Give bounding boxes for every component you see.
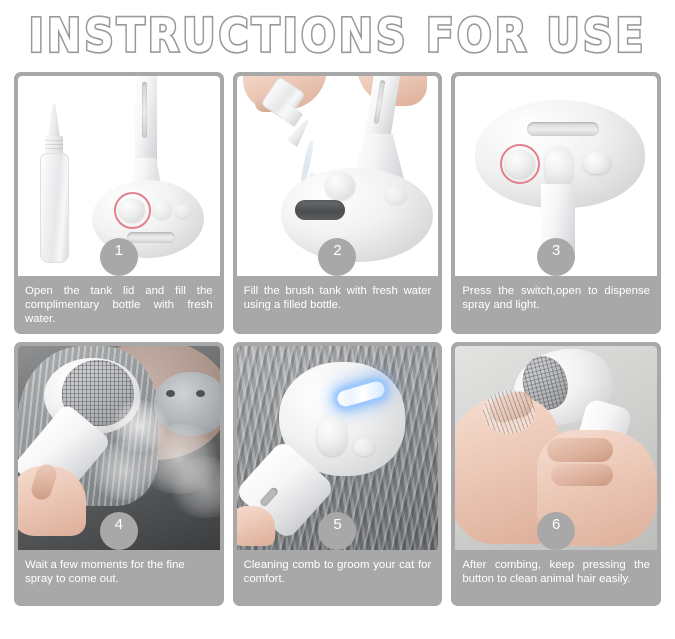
secondary-knob (152, 200, 172, 219)
step-badge-3: 3 (537, 238, 575, 276)
steps-grid: 1 Open the tank lid and fill the complim… (0, 72, 675, 615)
tank-lid-knob (325, 172, 355, 200)
animal-hair-tuft (483, 390, 535, 434)
step-caption-2: Fill the brush tank with fresh water usi… (233, 276, 443, 334)
step-panel-2: 2 Fill the brush tank with fresh water u… (233, 72, 443, 334)
base-slot-dark (295, 200, 345, 220)
bottle-neck-icon (45, 136, 63, 154)
step-badge-6: 6 (537, 512, 575, 550)
step-image-6: 6 (455, 346, 657, 550)
step-image-2: 2 (237, 76, 439, 276)
instructions-infographic: INSTRUCTIONS FOR USE (0, 0, 675, 639)
step-panel-3: 3 Press the switch,open to dispense spra… (451, 72, 661, 334)
step-panel-1: 1 Open the tank lid and fill the complim… (14, 72, 224, 334)
step-panel-4: 4 Wait a few moments for the fine spray … (14, 342, 224, 606)
handle-slot (142, 82, 147, 138)
top-slot (527, 122, 599, 136)
water-bottle-icon (40, 153, 69, 263)
power-switch-knob (385, 186, 407, 204)
step-panel-6: 6 After combing, keep pressing the butto… (451, 342, 661, 606)
step-image-1: 1 (18, 76, 220, 276)
step-caption-1: Open the tank lid and fill the complimen… (14, 276, 224, 334)
side-knob (353, 438, 375, 456)
tank-lid-knob (119, 198, 145, 222)
bottle-tip-icon (48, 104, 60, 138)
tertiary-knob (175, 204, 191, 218)
step-badge-5: 5 (318, 512, 356, 550)
step-panel-5: 5 Cleaning comb to groom your cat for co… (233, 342, 443, 606)
step-caption-6: After combing, keep pressing the button … (451, 550, 661, 606)
step-caption-4: Wait a few moments for the fine spray to… (14, 550, 224, 606)
step-badge-2: 2 (318, 238, 356, 276)
finger-right-1 (547, 438, 613, 462)
step-image-3: 3 (455, 76, 657, 276)
page-title: INSTRUCTIONS FOR USE (29, 9, 647, 63)
finger (237, 506, 275, 546)
spray-mist (88, 442, 160, 500)
side-knob (583, 152, 611, 174)
cat-eye-right (196, 390, 205, 397)
center-knob (317, 416, 347, 456)
step-image-4: 4 (18, 346, 220, 550)
center-knob (545, 146, 573, 188)
title-bar: INSTRUCTIONS FOR USE (0, 0, 675, 72)
step-badge-1: 1 (100, 238, 138, 276)
step-badge-4: 4 (100, 512, 138, 550)
step-caption-5: Cleaning comb to groom your cat for comf… (233, 550, 443, 606)
step-image-5: 5 (237, 346, 439, 550)
step-caption-3: Press the switch,open to dispense spray … (451, 276, 661, 334)
base-slot (127, 232, 175, 243)
finger-right-2 (551, 464, 613, 486)
cat-eye-left (166, 390, 175, 397)
